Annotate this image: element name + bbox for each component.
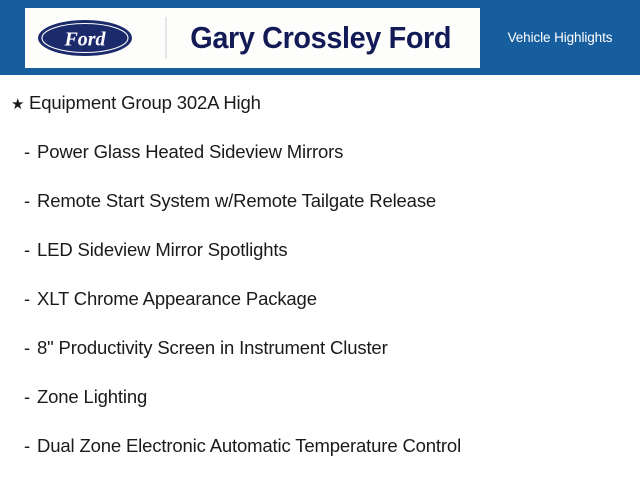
feature-label: Dual Zone Electronic Automatic Temperatu… — [37, 435, 461, 457]
list-item: - Zone Lighting — [0, 386, 640, 435]
brand-divider — [165, 17, 167, 59]
feature-label: Remote Start System w/Remote Tailgate Re… — [37, 190, 436, 212]
dash-bullet-icon: - — [24, 141, 37, 163]
ford-logo-container: Ford — [25, 19, 145, 57]
section-title-vehicle-highlights: Vehicle Highlights — [480, 0, 640, 75]
list-item: - LED Sideview Mirror Spotlights — [0, 239, 640, 288]
list-item: - Dual Zone Electronic Automatic Tempera… — [0, 435, 640, 484]
dash-bullet-icon: - — [24, 239, 37, 261]
feature-label: XLT Chrome Appearance Package — [37, 288, 317, 310]
feature-list: ★ Equipment Group 302A High - Power Glas… — [0, 92, 640, 484]
dash-bullet-icon: - — [24, 386, 37, 408]
dealer-name: Gary Crossley Ford — [178, 20, 469, 56]
feature-label: Zone Lighting — [37, 386, 147, 408]
list-item: ★ Equipment Group 302A High — [0, 92, 640, 141]
feature-label: Equipment Group 302A High — [29, 92, 261, 114]
feature-label: Power Glass Heated Sideview Mirrors — [37, 141, 343, 163]
list-item: - Power Glass Heated Sideview Mirrors — [0, 141, 640, 190]
feature-label: LED Sideview Mirror Spotlights — [37, 239, 287, 261]
feature-label: 8" Productivity Screen in Instrument Clu… — [37, 337, 388, 359]
ford-oval-logo: Ford — [37, 19, 133, 57]
dealer-brand-card: Ford Gary Crossley Ford — [25, 8, 480, 68]
header-bar: Ford Gary Crossley Ford Vehicle Highligh… — [0, 0, 640, 75]
list-item: - 8" Productivity Screen in Instrument C… — [0, 337, 640, 386]
dash-bullet-icon: - — [24, 288, 37, 310]
list-item: - XLT Chrome Appearance Package — [0, 288, 640, 337]
list-item: - Remote Start System w/Remote Tailgate … — [0, 190, 640, 239]
svg-text:Ford: Ford — [63, 29, 106, 51]
dash-bullet-icon: - — [24, 337, 37, 359]
star-bullet-icon: ★ — [11, 95, 29, 113]
dash-bullet-icon: - — [24, 190, 37, 212]
vehicle-highlights-panel: ★ Equipment Group 302A High - Power Glas… — [0, 75, 640, 480]
dash-bullet-icon: - — [24, 435, 37, 457]
